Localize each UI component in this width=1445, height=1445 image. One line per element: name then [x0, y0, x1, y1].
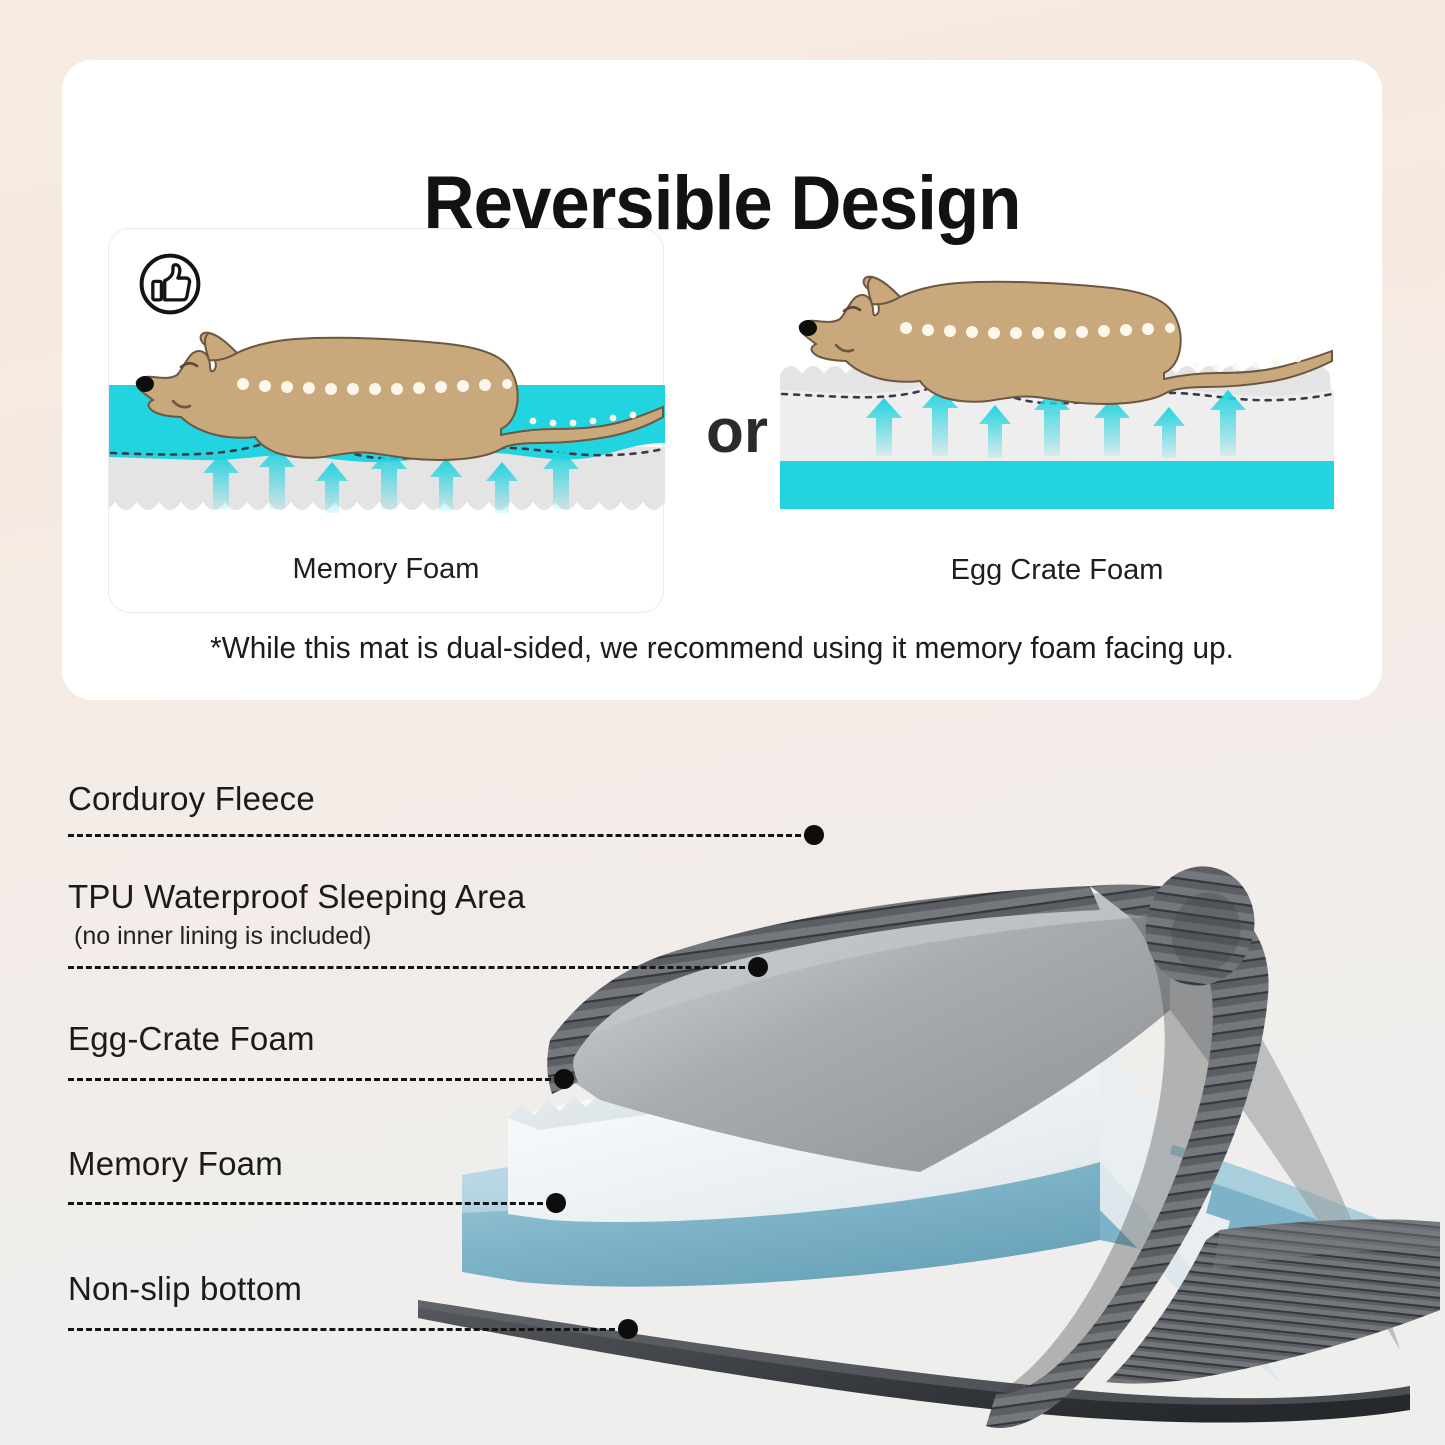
- leader-line-memory-foam: [68, 1202, 552, 1205]
- memory-foam-illustration: [109, 257, 665, 587]
- layer-label-memory-foam: Memory Foam: [68, 1145, 283, 1183]
- leader-dot-egg-crate-foam: [554, 1069, 574, 1089]
- dual-sided-footnote: *While this mat is dual-sided, we recomm…: [88, 630, 1355, 666]
- leader-dot-tpu-waterproof: [748, 957, 768, 977]
- layer-sublabel-tpu-waterproof: (no inner lining is included): [74, 922, 371, 951]
- leader-line-tpu-waterproof: [68, 966, 754, 969]
- leader-line-egg-crate-foam: [68, 1078, 560, 1081]
- leader-line-corduroy-fleece: [68, 834, 810, 837]
- layer-label-egg-crate-foam: Egg-Crate Foam: [68, 1020, 315, 1058]
- layer-label-tpu-waterproof: TPU Waterproof Sleeping Area: [68, 878, 525, 916]
- layer-breakdown-section: Corduroy Fleece TPU Waterproof Sleeping …: [0, 700, 1445, 1445]
- reversible-design-card: Reversible Design: [62, 60, 1382, 700]
- layer-label-non-slip-bottom: Non-slip bottom: [68, 1270, 302, 1308]
- leader-dot-non-slip-bottom: [618, 1319, 638, 1339]
- egg-crate-foam-panel: Egg Crate Foam: [772, 228, 1342, 613]
- layer-label-corduroy-fleece: Corduroy Fleece: [68, 780, 315, 818]
- leader-dot-corduroy-fleece: [804, 825, 824, 845]
- leader-line-non-slip-bottom: [68, 1328, 624, 1331]
- egg-crate-foam-caption: Egg Crate Foam: [772, 554, 1342, 587]
- egg-crate-foam-illustration: [772, 256, 1342, 586]
- comparison-row: Memory Foam or: [62, 228, 1382, 618]
- memory-foam-panel: Memory Foam: [108, 228, 664, 613]
- memory-foam-caption: Memory Foam: [109, 553, 663, 586]
- leader-dot-memory-foam: [546, 1193, 566, 1213]
